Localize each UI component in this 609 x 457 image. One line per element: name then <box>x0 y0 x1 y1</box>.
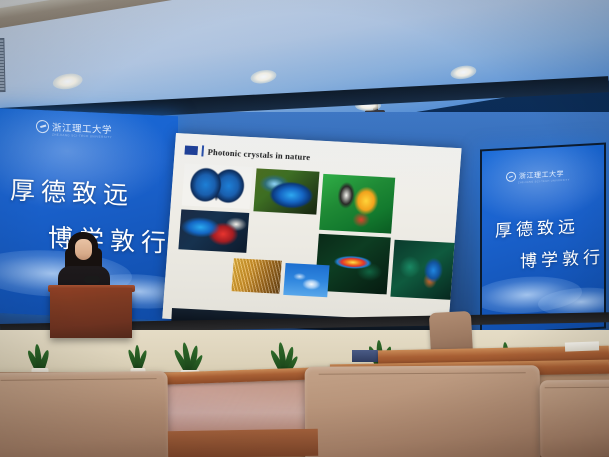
slide-photo-blue-morpho-butterfly-white <box>182 164 253 210</box>
slide-photo-opal-gemstones <box>176 253 230 290</box>
foreground-seat-left[interactable] <box>0 371 168 457</box>
slide-photo-iridescent-fish-scales <box>178 209 249 253</box>
potted-plant-7 <box>122 332 154 372</box>
right-screen-motto-line1: 厚德致远 <box>495 212 579 242</box>
downlight-3 <box>450 64 478 81</box>
auditorium-photo: 浙江理工大学 ZHEJIANG SCI-TECH UNIVERSITY 厚德致远… <box>0 0 609 457</box>
slide-photo-kingfisher-bird <box>390 240 460 300</box>
right-screen-motto-line2: 博学敦行 <box>520 243 604 273</box>
slide-bullet-bar-icon <box>201 145 204 156</box>
slide-bullet-square-icon <box>184 146 198 156</box>
seat-row-base <box>168 429 318 457</box>
air-vent-icon <box>0 38 6 93</box>
right-led-screen[interactable]: 浙江理工大学 ZHEJIANG SCI-TECH UNIVERSITY 厚德致远… <box>480 142 606 335</box>
foreground-seat-far-right[interactable] <box>540 380 609 457</box>
podium-microphone-icon <box>84 276 100 283</box>
lectern <box>50 288 132 338</box>
projected-slide[interactable]: Photonic crystals in nature <box>162 133 461 334</box>
university-emblem-icon <box>36 119 49 133</box>
slide-photo-swallowtail-on-yellow-flower <box>319 174 395 234</box>
slide-photo-golden-feather <box>231 258 281 293</box>
slide-photo-blue-butterfly-leaf <box>253 168 319 214</box>
potted-plant-2 <box>170 330 210 376</box>
slide-photo-soap-bubble <box>250 215 316 258</box>
presenter-face <box>75 239 92 260</box>
left-screen-motto-line1: 厚德致远 <box>10 171 134 213</box>
slide-photo-peacock-feather-eyes <box>395 180 462 239</box>
downlight-1 <box>52 72 84 92</box>
university-emblem-icon <box>506 172 516 183</box>
stage-equipment-box <box>352 350 378 362</box>
desk-papers <box>565 341 599 351</box>
downlight-2 <box>250 68 278 85</box>
slide-photo-blue-sky-clouds <box>283 263 329 297</box>
foreground-seat-right[interactable] <box>305 365 541 457</box>
